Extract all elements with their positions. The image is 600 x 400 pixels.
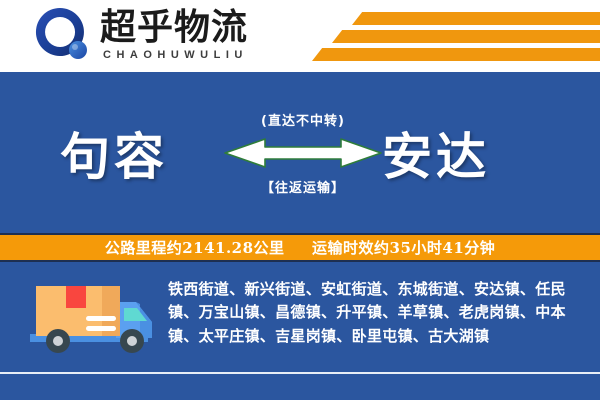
roundtrip-note: 【往返运输】 — [261, 177, 345, 196]
brand-logo[interactable]: 超乎物流 CHAOHUWULIU — [34, 6, 248, 64]
header: 超乎物流 CHAOHUWULIU — [0, 0, 600, 72]
decorative-stripes — [310, 0, 600, 72]
footer — [0, 374, 600, 400]
destination-city: 安达 — [382, 117, 490, 189]
info-bar-text: 公路里程约2141.28公里 运输时效约35小时41分钟 — [105, 237, 496, 258]
stripe-1 — [352, 12, 600, 25]
coverage-area-list: 铁西街道、新兴街道、安虹街道、东城街道、安达镇、任民镇、万宝山镇、昌德镇、升平镇… — [168, 278, 588, 348]
logistics-route-poster: 超乎物流 CHAOHUWULIU 句容 (直达不中转) 【往返运输】 安达 公路… — [0, 0, 600, 400]
delivery-truck-icon — [28, 278, 158, 358]
brand-wordmark: 超乎物流 CHAOHUWULIU — [100, 9, 248, 62]
duration-text: 运输时效约35小时41分钟 — [312, 239, 495, 257]
brand-name-en: CHAOHUWULIU — [103, 49, 248, 61]
origin-city: 句容 — [60, 117, 168, 189]
double-headed-arrow-icon — [223, 135, 383, 169]
direct-service-note: (直达不中转) — [261, 110, 345, 129]
brand-name-cn: 超乎物流 — [100, 9, 248, 47]
stripe-3 — [312, 48, 600, 61]
route-middle: (直达不中转) 【往返运输】 — [218, 72, 388, 233]
route-banner: 句容 (直达不中转) 【往返运输】 安达 — [0, 72, 600, 233]
crescent-circle-logo-icon — [34, 6, 96, 64]
coverage-section: 铁西街道、新兴街道、安虹街道、东城街道、安达镇、任民镇、万宝山镇、昌德镇、升平镇… — [0, 262, 600, 372]
stripe-2 — [332, 30, 600, 43]
distance-text: 公路里程约2141.28公里 — [105, 239, 285, 257]
route-info-bar: 公路里程约2141.28公里 运输时效约35小时41分钟 — [0, 233, 600, 262]
